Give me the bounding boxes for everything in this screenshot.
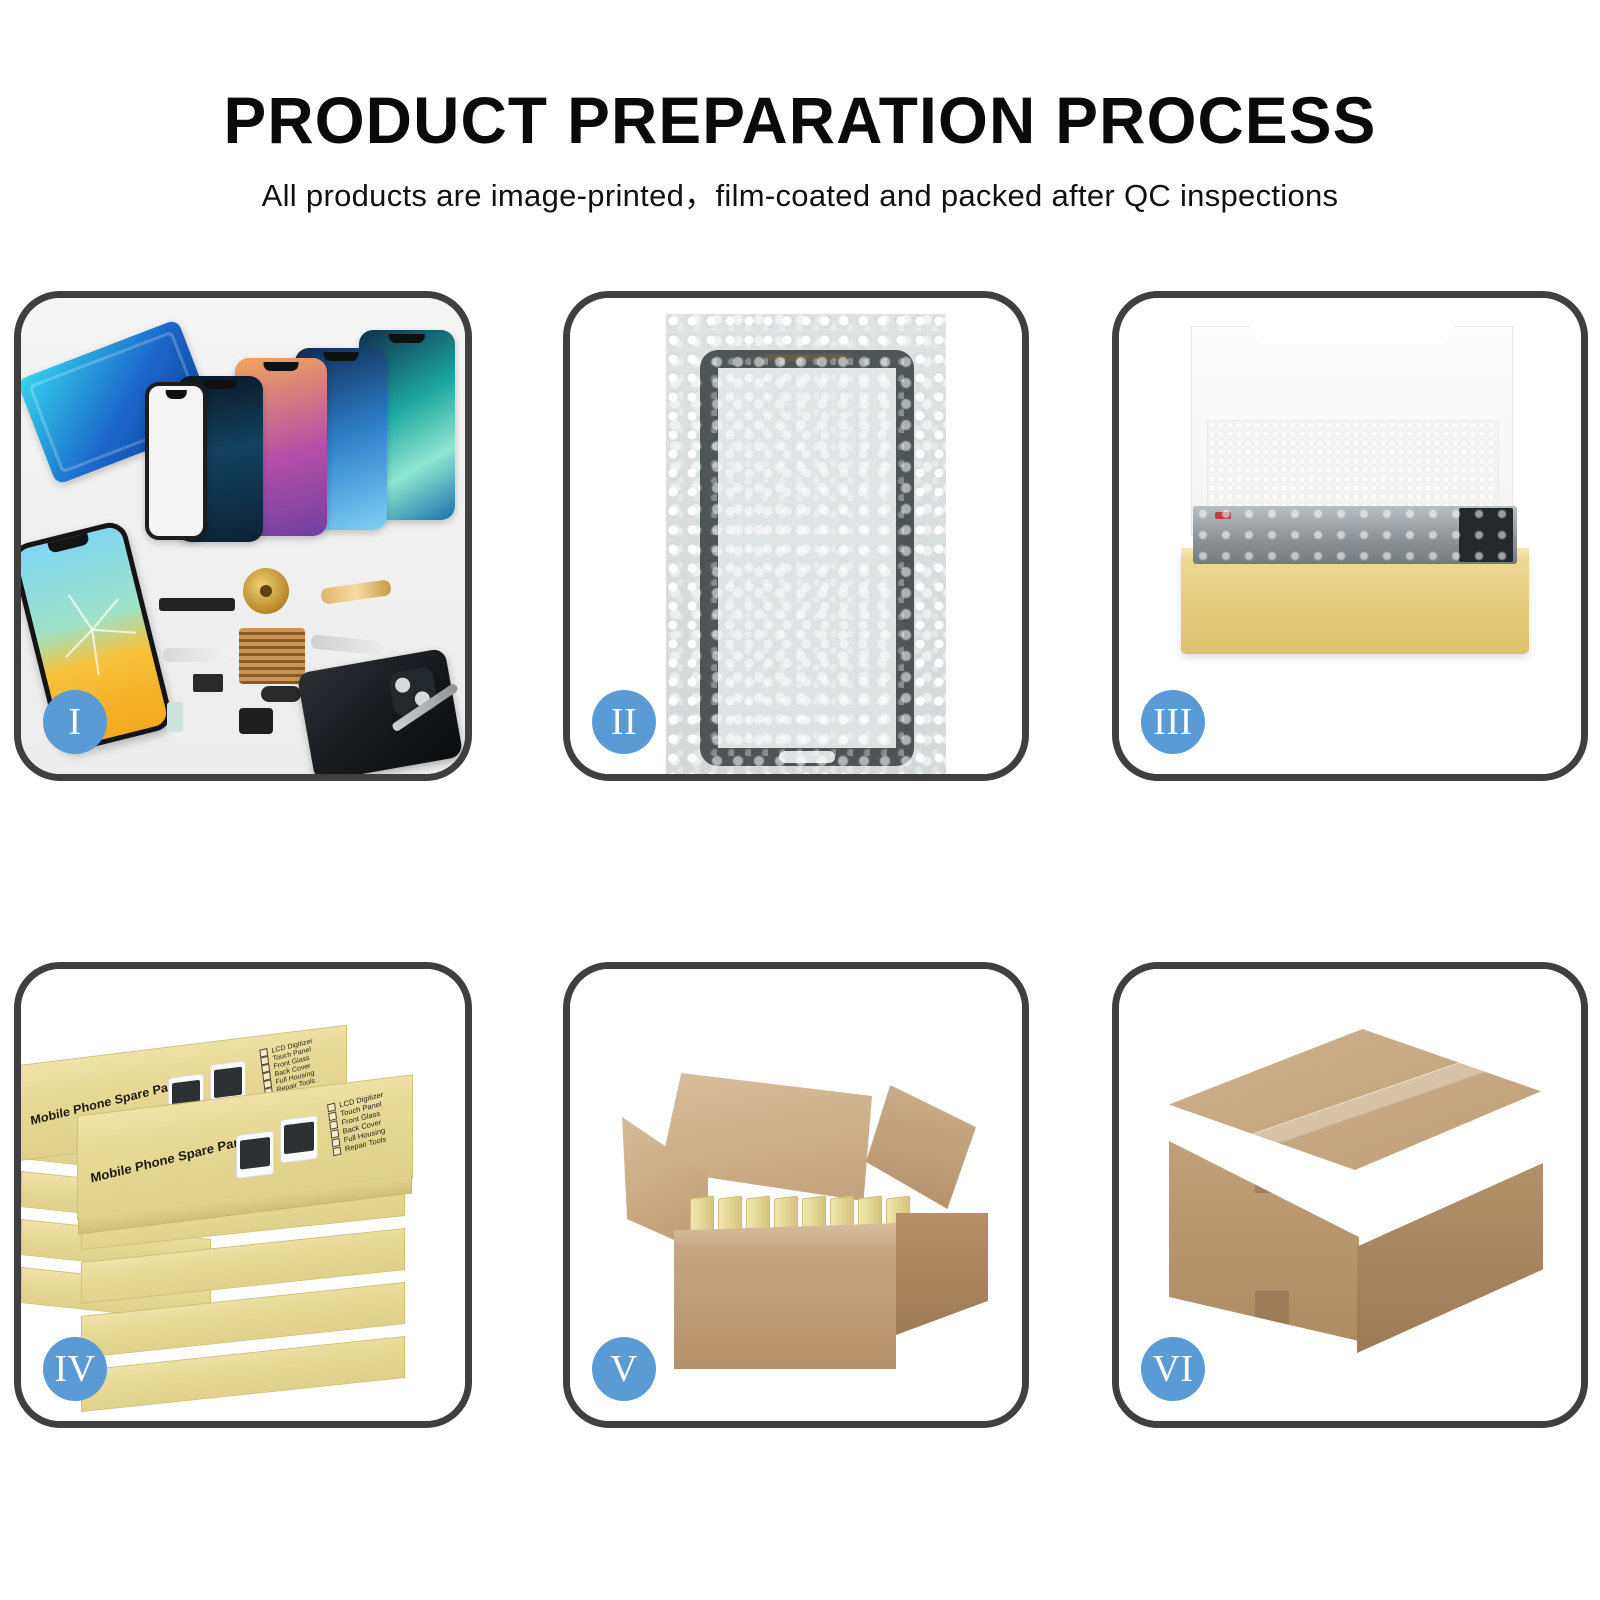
step-badge-6: VI [1141, 1337, 1205, 1401]
box-label-title: Mobile Phone Spare Parts [90, 1132, 251, 1186]
small-chip-part [261, 686, 301, 702]
infographic-page: PRODUCT PREPARATION PROCESS All products… [0, 0, 1600, 1600]
front-glass-panel [145, 382, 207, 540]
process-grid: I II [0, 0, 1600, 1600]
ic-chip-array-part [239, 628, 305, 684]
wireless-charge-coil-part [243, 568, 289, 614]
carton-tape-strip [1255, 1151, 1293, 1193]
carton-tape-strip [1255, 1291, 1289, 1329]
box-label-phone-photo [236, 1130, 274, 1179]
kraft-box-tray [1181, 550, 1529, 654]
flex-cable-part [320, 579, 392, 605]
step-panel-2: II [563, 291, 1029, 781]
flex-cable-part [163, 648, 229, 662]
step-badge-2: II [592, 690, 656, 754]
small-chip-part [193, 674, 223, 692]
flex-cable-part [310, 634, 383, 655]
box-label-phone-photo [280, 1115, 318, 1164]
speaker-part [239, 708, 273, 734]
shipping-carton-sealed [1153, 1029, 1557, 1369]
step-badge-3: III [1141, 690, 1205, 754]
shipping-carton-open [616, 1055, 988, 1373]
carton-flap-right [866, 1085, 976, 1209]
step-panel-6: VI [1112, 962, 1588, 1428]
step-badge-5: V [592, 1337, 656, 1401]
carton-side-face [896, 1213, 988, 1335]
wrapped-screen-frame [700, 350, 914, 766]
step-panel-5: V [563, 962, 1029, 1428]
earpiece-mesh-part [159, 598, 235, 611]
carton-front-face [1169, 1141, 1359, 1341]
carton-seal-tape [1169, 1029, 1541, 1193]
step-panel-1: I [14, 291, 472, 781]
wrapped-screen-in-box [1193, 506, 1517, 564]
carton-front-face [674, 1245, 896, 1369]
phone-lineup [159, 330, 459, 560]
step-panel-3: III [1112, 291, 1588, 781]
step-badge-4: IV [43, 1337, 107, 1401]
box-label-checklist: LCD Digitizer Touch Panel Front Glass Ba… [327, 1090, 389, 1156]
carton-side-face [1357, 1163, 1543, 1353]
step-panel-4: Mobile Phone Spare Parts LCD Digitizer T… [14, 962, 472, 1428]
bubble-wrap-sheet [666, 314, 946, 780]
step-badge-1: I [43, 690, 107, 754]
sim-tray-part [167, 702, 183, 732]
